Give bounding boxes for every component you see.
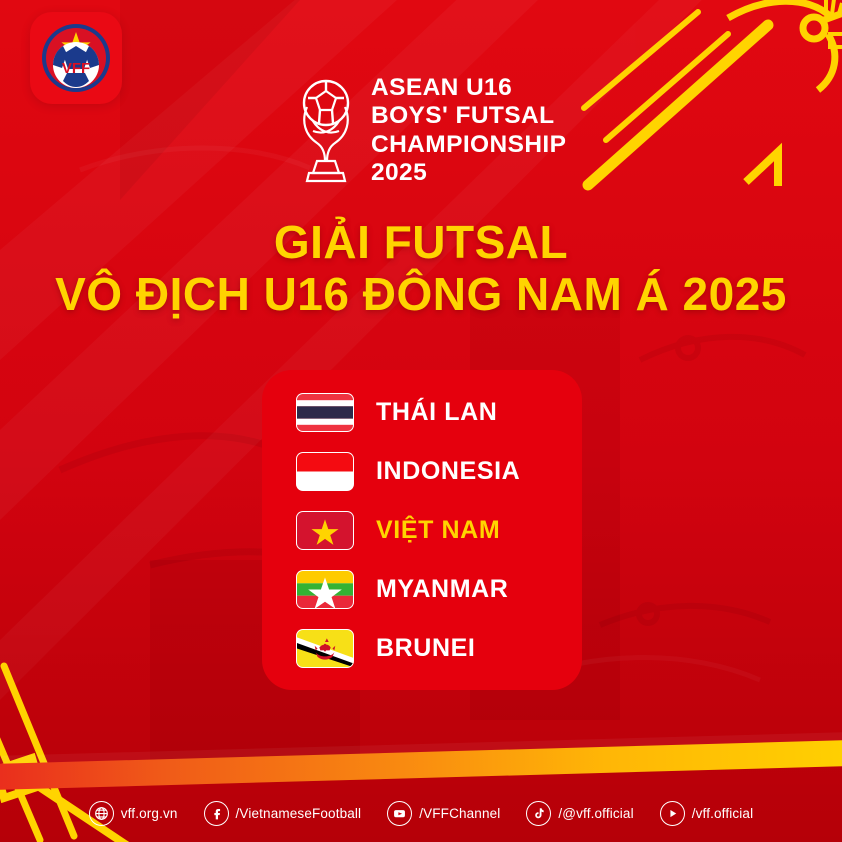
youtube-icon bbox=[387, 801, 412, 826]
logo-line-1: ASEAN U16 bbox=[371, 74, 566, 102]
footer-item-website[interactable]: vff.org.vn bbox=[89, 801, 178, 826]
team-name-brunei: BRUNEI bbox=[376, 634, 475, 663]
flag-myanmar-icon bbox=[296, 570, 354, 609]
vff-crest-icon: VFF bbox=[39, 21, 113, 95]
footer-item-facebook[interactable]: /VietnameseFootball bbox=[204, 801, 362, 826]
team-row-thailand[interactable]: THÁI LAN bbox=[296, 387, 582, 438]
team-name-vietnam: VIỆT NAM bbox=[376, 516, 500, 545]
team-name-myanmar: MYANMAR bbox=[376, 575, 508, 604]
globe-icon bbox=[89, 801, 114, 826]
team-row-vietnam[interactable]: VIỆT NAM bbox=[296, 505, 582, 556]
footer-label-facebook: /VietnameseFootball bbox=[236, 806, 362, 821]
flag-thailand-icon bbox=[296, 393, 354, 432]
poster-root: VFF ASEAN U16 BOYS' FUTSAL CHAMPIONSHIP bbox=[0, 0, 842, 842]
futsal-trophy-icon bbox=[295, 77, 357, 185]
vff-logo-badge[interactable]: VFF bbox=[30, 12, 122, 104]
team-row-myanmar[interactable]: MYANMAR bbox=[296, 564, 582, 615]
footer-label-tiktok: /@vff.official bbox=[558, 806, 633, 821]
flag-vietnam-icon bbox=[296, 511, 354, 550]
crane-graphic-top-right bbox=[578, 0, 842, 200]
tournament-logo: ASEAN U16 BOYS' FUTSAL CHAMPIONSHIP 2025 bbox=[295, 74, 566, 188]
footer-label-website: vff.org.vn bbox=[121, 806, 178, 821]
flag-brunei-icon bbox=[296, 629, 354, 668]
headline-line-2: VÔ ĐỊCH U16 ĐÔNG NAM Á 2025 bbox=[0, 267, 842, 321]
page-title: GIẢI FUTSAL VÔ ĐỊCH U16 ĐÔNG NAM Á 2025 bbox=[0, 218, 842, 321]
team-name-thailand: THÁI LAN bbox=[376, 398, 497, 427]
teams-panel: THÁI LAN INDONESIA VIỆT NAM bbox=[262, 370, 582, 690]
footer-item-play[interactable]: /vff.official bbox=[660, 801, 753, 826]
team-name-indonesia: INDONESIA bbox=[376, 457, 520, 486]
team-row-brunei[interactable]: BRUNEI bbox=[296, 623, 582, 674]
logo-line-4: 2025 bbox=[371, 159, 566, 187]
footer-label-play: /vff.official bbox=[692, 806, 753, 821]
facebook-icon bbox=[204, 801, 229, 826]
footer-label-youtube: /VFFChannel bbox=[419, 806, 500, 821]
tiktok-icon bbox=[526, 801, 551, 826]
logo-line-3: CHAMPIONSHIP bbox=[371, 131, 566, 159]
footer-item-tiktok[interactable]: /@vff.official bbox=[526, 801, 633, 826]
tournament-logo-text: ASEAN U16 BOYS' FUTSAL CHAMPIONSHIP 2025 bbox=[371, 74, 566, 188]
play-icon bbox=[660, 801, 685, 826]
footer-item-youtube[interactable]: /VFFChannel bbox=[387, 801, 500, 826]
headline-line-1: GIẢI FUTSAL bbox=[0, 218, 842, 267]
footer-social-bar: vff.org.vn /VietnameseFootball /VFFChann… bbox=[0, 801, 842, 826]
flag-indonesia-icon bbox=[296, 452, 354, 491]
svg-text:VFF: VFF bbox=[62, 60, 90, 77]
team-row-indonesia[interactable]: INDONESIA bbox=[296, 446, 582, 497]
logo-line-2: BOYS' FUTSAL bbox=[371, 102, 566, 130]
